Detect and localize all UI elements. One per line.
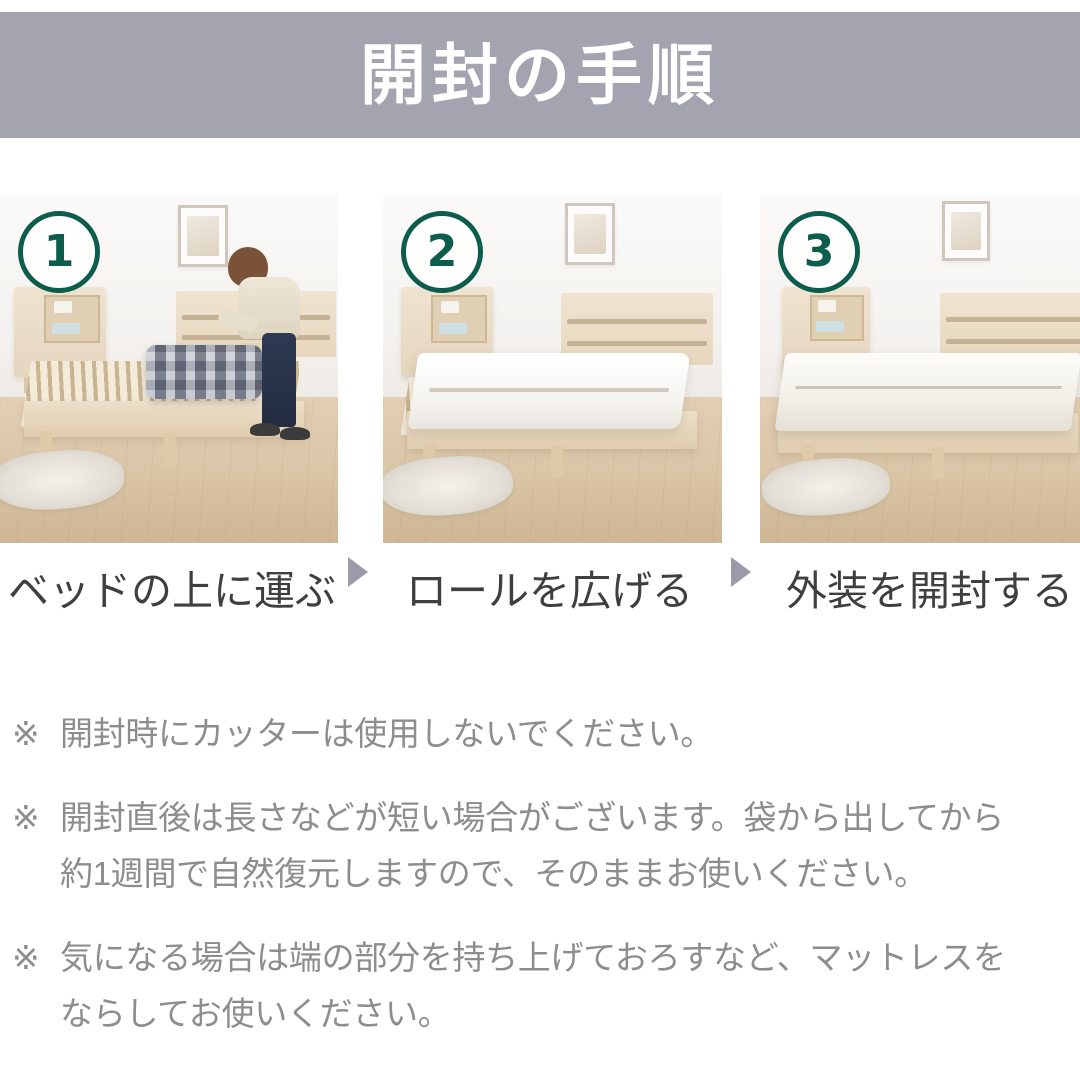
step-badge-3: 3 <box>778 211 860 293</box>
note-line: 約1週間で自然復元しますので、そのままお使いください。 <box>60 846 1080 902</box>
notes-list: ※ 開封時にカッターは使用しないでください。 ※ 開封直後は長さなどが短い場合が… <box>0 706 1080 1070</box>
step-caption-2: ロールを広げる <box>406 563 693 619</box>
bed-leg <box>551 445 563 477</box>
bed-headboard <box>940 293 1080 361</box>
person-shoe <box>280 427 310 440</box>
step-panel-2: 2 <box>383 195 722 543</box>
steps-row: 1 2 <box>0 195 1080 543</box>
cabinet-item-top <box>818 300 836 312</box>
step-badge-1: 1 <box>18 211 100 293</box>
note-mark-icon: ※ <box>12 930 40 986</box>
wall-art-frame <box>942 201 990 261</box>
note-line: 気になる場合は端の部分を持ち上げておろすなど、マットレスを <box>60 930 1080 986</box>
note-item: ※ 開封直後は長さなどが短い場合がございます。袋から出してから 約1週間で自然復… <box>0 790 1080 902</box>
cabinet-item-top <box>54 301 72 313</box>
step-badge-number: 1 <box>44 230 75 274</box>
headboard-slot <box>946 339 1080 344</box>
cabinet-shelf <box>44 295 100 343</box>
step-captions: ベッドの上に運ぶ ロールを広げる 外装を開封する <box>0 563 1080 623</box>
step-caption-3: 外装を開封する <box>786 563 1073 619</box>
cabinet-item-bottom <box>816 321 844 332</box>
cabinet-item-top <box>441 301 459 313</box>
bed-leg <box>164 433 176 467</box>
note-line: 開封時にカッターは使用しないでください。 <box>60 706 1080 762</box>
cabinet-item-bottom <box>439 323 467 334</box>
step-caption-1: ベッドの上に運ぶ <box>8 563 336 619</box>
bed-leg <box>932 447 944 479</box>
person-legs <box>262 333 296 427</box>
headboard-slot <box>946 317 1080 322</box>
header-band: 開封の手順 <box>0 12 1080 138</box>
note-mark-icon: ※ <box>12 790 40 846</box>
note-line: ならしてお使いください。 <box>60 986 1080 1042</box>
step-panel-1: 1 <box>0 195 338 543</box>
step-badge-number: 3 <box>804 230 835 274</box>
step-badge-number: 2 <box>427 230 458 274</box>
note-mark-icon: ※ <box>12 706 40 762</box>
note-item: ※ 開封時にカッターは使用しないでください。 <box>0 706 1080 762</box>
note-item: ※ 気になる場合は端の部分を持ち上げておろすなど、マットレスを ならしてお使いく… <box>0 930 1080 1042</box>
note-line: 開封直後は長さなどが短い場合がございます。袋から出してから <box>60 790 1080 846</box>
unwrapped-mattress <box>775 353 1080 431</box>
step-badge-2: 2 <box>401 211 483 293</box>
cabinet-shelf <box>431 295 487 343</box>
wall-art-frame <box>565 203 615 265</box>
person-shoe <box>250 423 280 436</box>
step-panel-3: 3 <box>760 195 1080 543</box>
page-title: 開封の手順 <box>360 42 720 108</box>
headboard-slot <box>567 319 707 324</box>
wrapped-mattress <box>408 353 691 429</box>
cabinet-item-bottom <box>52 323 80 334</box>
person <box>212 247 312 437</box>
headboard-slot <box>567 341 707 346</box>
